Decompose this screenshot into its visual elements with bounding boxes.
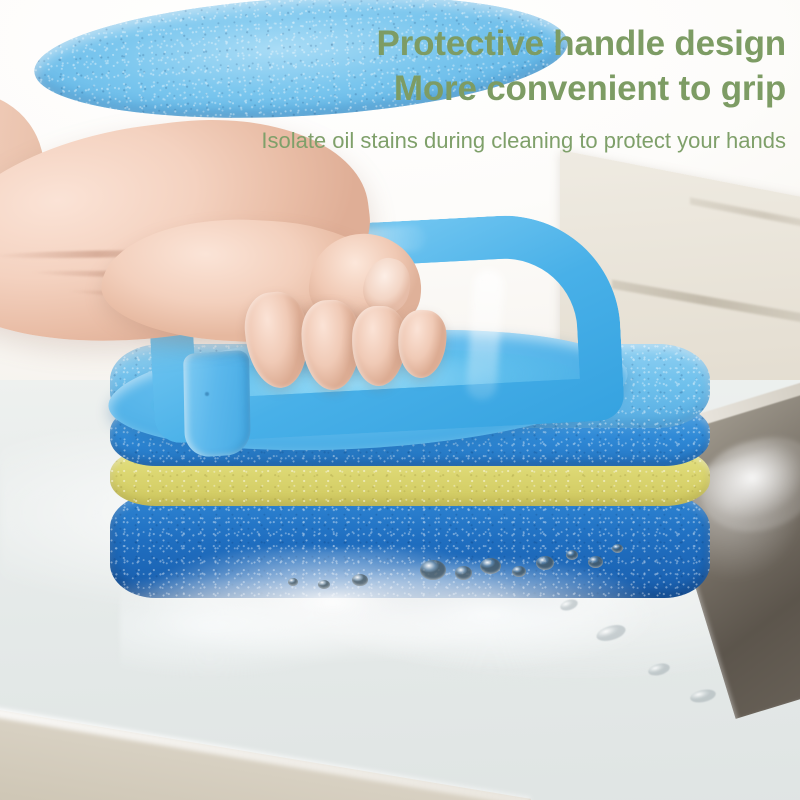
bubble bbox=[352, 574, 368, 586]
subtitle-text: Isolate oil stains during cleaning to pr… bbox=[0, 126, 786, 156]
bubble bbox=[455, 566, 472, 580]
bubble bbox=[420, 560, 446, 580]
bubble bbox=[512, 566, 526, 577]
bubble bbox=[588, 556, 603, 568]
headline-line-2: More convenient to grip bbox=[0, 67, 786, 111]
bubble bbox=[318, 580, 330, 589]
bubble bbox=[536, 556, 554, 570]
bubble bbox=[480, 558, 501, 574]
marketing-copy: Protective handle design More convenient… bbox=[0, 0, 800, 156]
bubble bbox=[566, 550, 578, 560]
headline-line-1: Protective handle design bbox=[0, 22, 786, 66]
bubble bbox=[288, 578, 298, 586]
product-marketing-image: Protective handle design More convenient… bbox=[0, 0, 800, 800]
soap-foam bbox=[120, 548, 680, 698]
bubble bbox=[612, 544, 623, 553]
